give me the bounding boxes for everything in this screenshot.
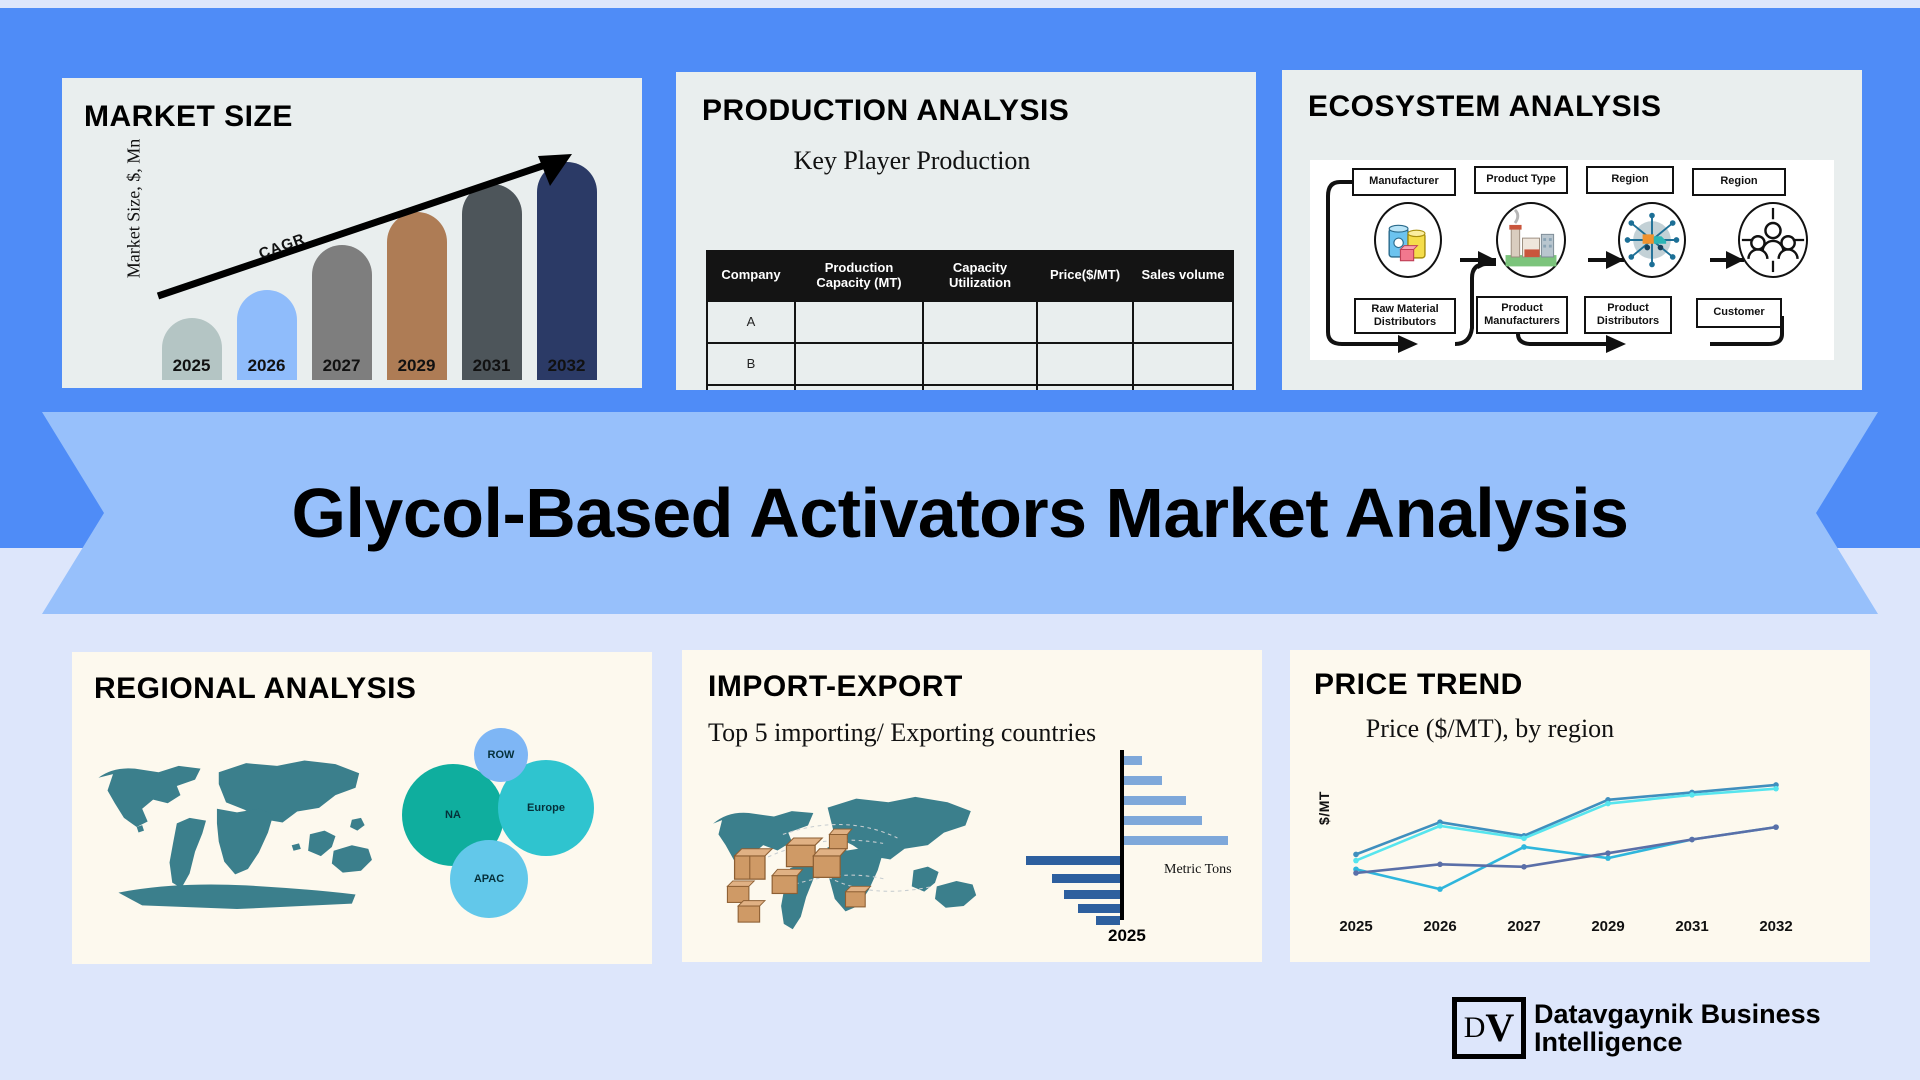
bar-year-label: 2027 (323, 356, 361, 380)
logo-line-2: Intelligence (1534, 1028, 1821, 1056)
bar-year-label: 2026 (248, 356, 286, 380)
price-point (1521, 864, 1527, 870)
price-point (1437, 823, 1443, 829)
import-bar-3 (1124, 796, 1186, 805)
import-bar-2 (1124, 776, 1162, 785)
barrels-icon (1374, 202, 1442, 278)
bubble-row[interactable]: ROW (474, 728, 528, 782)
logo-wordmark: Datavgaynik Business Intelligence (1534, 1000, 1821, 1057)
price-point (1605, 850, 1611, 856)
price-trend-title: PRICE TREND (1314, 670, 1523, 700)
market-size-bar-2031: 2031 (462, 184, 522, 380)
table-row[interactable]: B (707, 343, 1233, 385)
distribution-network-icon (1618, 202, 1686, 278)
bubble-label: NA (445, 809, 461, 821)
key-player-production-table: Company Production Capacity (MT) Capacit… (706, 250, 1234, 390)
market-size-y-axis-label: Market Size, $, Mn (124, 109, 145, 309)
table-row[interactable]: C (707, 385, 1233, 390)
dv-logo-mark: DV (1452, 997, 1526, 1059)
import-export-tornado-chart: Metric Tons 2025 (1012, 750, 1232, 940)
import-export-title: IMPORT-EXPORT (708, 672, 963, 702)
eco-box-raw-material-distributors[interactable]: Raw Material Distributors (1354, 298, 1456, 334)
price-point (1689, 792, 1695, 798)
market-size-bar-2027: 2027 (312, 245, 372, 380)
regional-analysis-title: REGIONAL ANALYSIS (94, 674, 416, 704)
price-x-tick-2031: 2031 (1675, 918, 1708, 935)
market-size-bar-2029: 2029 (387, 212, 447, 380)
market-size-bar-plot: 202520262027202920312032 (154, 150, 604, 380)
import-bar-1 (1124, 756, 1142, 765)
bar-year-label: 2032 (548, 356, 586, 380)
price-x-tick-2026: 2026 (1423, 918, 1456, 935)
cell-company: A (707, 301, 795, 343)
price-point (1521, 844, 1527, 850)
column-header-utilization: Capacity Utilization (923, 251, 1037, 301)
page-title: Glycol-Based Activators Market Analysis (292, 478, 1629, 548)
column-header-capacity: Production Capacity (MT) (795, 251, 923, 301)
regional-analysis-card: REGIONAL ANALYSIS NA Europe APAC ROW (72, 652, 652, 964)
price-point (1353, 870, 1359, 876)
price-point (1689, 837, 1695, 843)
price-line-series-2 (1356, 789, 1776, 861)
price-point (1437, 886, 1443, 892)
tornado-year-label: 2025 (1108, 926, 1146, 946)
cell-capacity[interactable] (795, 301, 923, 343)
main-title-banner: Glycol-Based Activators Market Analysis (42, 412, 1878, 614)
cell-sales[interactable] (1133, 385, 1233, 390)
bubble-apac[interactable]: APAC (450, 840, 528, 918)
price-x-tick-2025: 2025 (1339, 918, 1372, 935)
export-bar-5 (1096, 916, 1120, 925)
price-point (1521, 835, 1527, 841)
column-header-company: Company (707, 251, 795, 301)
price-point (1773, 824, 1779, 830)
import-export-card: IMPORT-EXPORT Top 5 importing/ Exporting… (682, 650, 1262, 962)
customers-icon (1738, 202, 1808, 278)
eco-box-product-distributors[interactable]: Product Distributors (1584, 296, 1672, 334)
cell-company: B (707, 343, 795, 385)
ecosystem-analysis-title: ECOSYSTEM ANALYSIS (1308, 92, 1662, 122)
price-trend-line-plot (1346, 770, 1796, 910)
cell-sales[interactable] (1133, 301, 1233, 343)
cell-price[interactable] (1037, 385, 1133, 390)
table-row[interactable]: A (707, 301, 1233, 343)
eco-box-product-manufacturers[interactable]: Product Manufacturers (1476, 296, 1568, 334)
market-size-title: MARKET SIZE (84, 102, 293, 132)
export-bar-1 (1026, 856, 1120, 865)
factory-icon (1496, 202, 1566, 278)
price-point (1773, 786, 1779, 792)
price-point (1605, 801, 1611, 807)
export-bar-2 (1052, 874, 1120, 883)
eco-box-region-2[interactable]: Region (1692, 168, 1786, 196)
price-y-axis-label: $/MT (1316, 768, 1332, 848)
price-x-tick-2029: 2029 (1591, 918, 1624, 935)
eco-box-region-1[interactable]: Region (1586, 166, 1674, 194)
eco-box-customer[interactable]: Customer (1696, 298, 1782, 328)
bar-year-label: 2031 (473, 356, 511, 380)
bubble-label: Europe (527, 802, 565, 814)
cell-price[interactable] (1037, 301, 1133, 343)
cell-capacity[interactable] (795, 385, 923, 390)
company-logo: DV Datavgaynik Business Intelligence (1452, 992, 1872, 1064)
cell-sales[interactable] (1133, 343, 1233, 385)
bubble-label: ROW (488, 749, 515, 761)
column-header-price: Price($/MT) (1037, 251, 1133, 301)
market-size-bar-2025: 2025 (162, 318, 222, 380)
ecosystem-analysis-card: ECOSYSTEM ANALYSIS Manufacturer Product … (1282, 70, 1862, 390)
price-x-tick-2032: 2032 (1759, 918, 1792, 935)
world-map-icon (82, 732, 392, 922)
cell-utilization[interactable] (923, 301, 1037, 343)
column-header-sales-volume: Sales volume (1133, 251, 1233, 301)
table-header-row: Company Production Capacity (MT) Capacit… (707, 251, 1233, 301)
production-analysis-card: PRODUCTION ANALYSIS Key Player Productio… (676, 72, 1256, 390)
price-x-tick-2027: 2027 (1507, 918, 1540, 935)
cell-utilization[interactable] (923, 385, 1037, 390)
logo-letter-d: D (1464, 1013, 1486, 1043)
price-point (1437, 862, 1443, 868)
ecosystem-diagram: Manufacturer Product Type Region Region … (1310, 160, 1834, 360)
market-size-bar-2032: 2032 (537, 162, 597, 380)
bar-year-label: 2029 (398, 356, 436, 380)
import-bar-4 (1124, 816, 1202, 825)
market-size-card: MARKET SIZE Market Size, $, Mn 202520262… (62, 78, 642, 388)
cell-company: C (707, 385, 795, 390)
price-point (1353, 852, 1359, 858)
production-analysis-title: PRODUCTION ANALYSIS (702, 96, 1069, 126)
bubble-label: APAC (474, 873, 504, 885)
price-point (1605, 855, 1611, 861)
cell-capacity[interactable] (795, 343, 923, 385)
production-subtitle: Key Player Production (702, 146, 1122, 176)
market-size-bar-2026: 2026 (237, 290, 297, 380)
cell-price[interactable] (1037, 343, 1133, 385)
price-x-axis: 202520262027202920312032 (1346, 918, 1796, 940)
logo-line-1: Datavgaynik Business (1534, 1000, 1821, 1028)
logo-letter-v: V (1485, 1008, 1514, 1048)
import-bar-5 (1124, 836, 1228, 845)
region-bubble-chart: NA Europe APAC ROW (402, 728, 632, 928)
price-point (1353, 858, 1359, 864)
import-export-subtitle: Top 5 importing/ Exporting countries (708, 718, 1178, 748)
export-bar-3 (1064, 890, 1120, 899)
bar-year-label: 2025 (173, 356, 211, 380)
price-trend-subtitle: Price ($/MT), by region (1350, 714, 1630, 744)
export-bar-4 (1078, 904, 1120, 913)
cell-utilization[interactable] (923, 343, 1037, 385)
price-trend-card: PRICE TREND Price ($/MT), by region $/MT… (1290, 650, 1870, 962)
eco-box-product-type[interactable]: Product Type (1474, 166, 1568, 194)
metric-tons-axis-label: Metric Tons (1164, 862, 1232, 878)
trade-routes-map-icon (700, 770, 1000, 940)
eco-box-manufacturer[interactable]: Manufacturer (1352, 168, 1456, 196)
